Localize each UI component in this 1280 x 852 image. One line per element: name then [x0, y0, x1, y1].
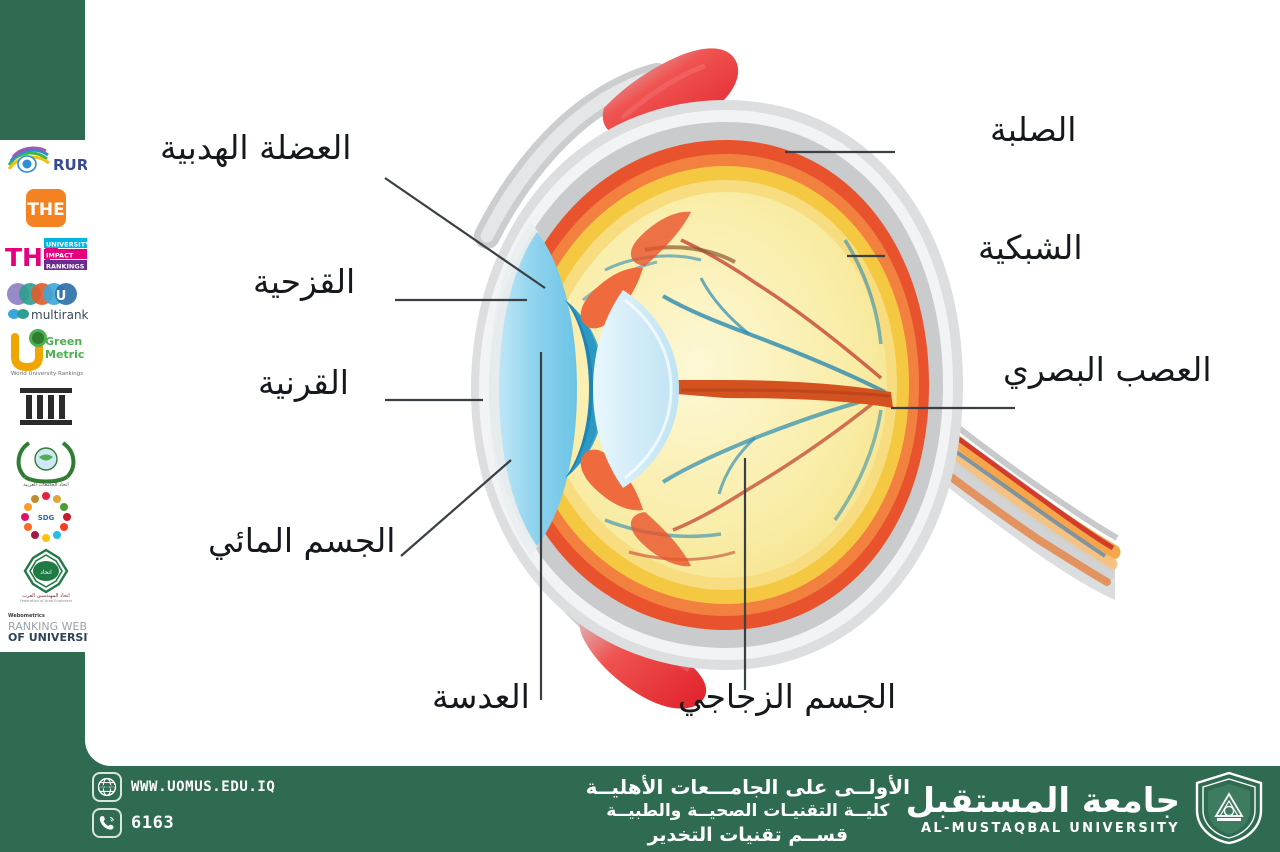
- faculty-line-1: الأولــى على الجامـــعات الأهليــة: [586, 774, 910, 800]
- svg-text:IMPACT: IMPACT: [46, 251, 74, 259]
- u-multirank-icon: U multirank: [4, 280, 88, 324]
- eye-anatomy-diagram: الصلبة الشبكية العصب البصري العضلة الهدب…: [85, 0, 1280, 766]
- svg-text:U: U: [56, 289, 67, 304]
- svg-text:RUR: RUR: [53, 156, 87, 174]
- label-ciliary-muscle: العضلة الهدبية: [160, 128, 351, 167]
- phone-icon: [92, 808, 122, 838]
- rur-icon: RUR: [5, 145, 87, 181]
- brand-name-ar: جامعة المستقبل: [906, 784, 1180, 820]
- website-label: WWW.UOMUS.EDU.IQ: [131, 779, 275, 795]
- badge-ui-greenmetric: Green Metric World University Rankings U…: [4, 328, 88, 378]
- the-impact-rankings-icon: THE UNIVERSITY IMPACT RANKINGS: [4, 235, 88, 275]
- accreditation-rankings-rail: RUR RUR THE THE THE UNIVERSITY IMPACT RA…: [0, 140, 92, 652]
- classical-building-icon: [16, 382, 76, 430]
- faculty-line-3: قســم تقنيات التخدير: [586, 823, 910, 848]
- badge-columns: [4, 381, 88, 431]
- svg-text:اتحاد الجامعات العربية: اتحاد الجامعات العربية: [23, 482, 69, 487]
- brand-name-en: AL-MUSTAQBAL UNIVERSITY: [906, 821, 1180, 836]
- badge-webometrics: Webometrics RANKING WEB OF UNIVERSITIES …: [4, 606, 88, 648]
- badge-rur: RUR RUR: [4, 144, 88, 182]
- phone-label: 6163: [131, 813, 174, 833]
- svg-text:THE: THE: [27, 200, 64, 220]
- label-aqueous-humor: الجسم المائي: [208, 521, 395, 560]
- contact-block: WWW WWW.UOMUS.EDU.IQ 6163: [92, 772, 322, 844]
- label-cornea: القرنية: [258, 363, 349, 402]
- faculty-block: الأولــى على الجامـــعات الأهليــة كليــ…: [586, 774, 910, 848]
- slide-background: الصلبة الشبكية العصب البصري العضلة الهدب…: [0, 0, 1280, 852]
- badge-arab-engineers: اتحاد اتحاد المهندسين العرب Federation o…: [4, 546, 88, 602]
- website-row[interactable]: WWW WWW.UOMUS.EDU.IQ: [92, 772, 322, 802]
- svg-text:SDG: SDG: [38, 514, 55, 522]
- svg-text:UNIVERSITY: UNIVERSITY: [46, 240, 88, 248]
- label-lens: العدسة: [432, 677, 530, 716]
- badge-arab-universities: اتحاد الجامعات العربية اتحاد الجامعات ال…: [4, 435, 88, 488]
- label-sclera: الصلبة: [990, 110, 1076, 149]
- svg-text:Green: Green: [45, 335, 82, 348]
- slide-footer: WWW WWW.UOMUS.EDU.IQ 6163 الأولــى على ا…: [0, 766, 1280, 852]
- university-brand: جامعة المستقبل AL-MUSTAQBAL UNIVERSITY: [906, 770, 1266, 850]
- svg-text:Metric: Metric: [45, 348, 84, 361]
- globe-www-icon: WWW: [92, 772, 122, 802]
- badge-the-impact: THE UNIVERSITY IMPACT RANKINGS THE UNIVE…: [4, 234, 88, 276]
- sdg-icon: SDG: [19, 492, 73, 542]
- university-shield-logo: [1192, 770, 1266, 850]
- svg-text:Federation of Arab Engineers: Federation of Arab Engineers: [20, 599, 72, 602]
- arab-engineers-icon: اتحاد اتحاد المهندسين العرب Federation o…: [7, 546, 85, 602]
- label-optic-nerve: العصب البصري: [1003, 350, 1212, 389]
- phone-row[interactable]: 6163: [92, 808, 322, 838]
- webometrics-icon: Webometrics RANKING WEB OF UNIVERSITIES: [4, 607, 88, 647]
- faculty-line-2: كليــة التقنيـات الصحيــة والطبيــة: [586, 800, 910, 822]
- badge-sdg: SDG SDG: [4, 492, 88, 542]
- svg-text:Webometrics: Webometrics: [8, 613, 45, 619]
- label-iris: القزحية: [253, 262, 355, 301]
- ui-greenmetric-icon: Green Metric World University Rankings: [5, 329, 87, 377]
- brand-text: جامعة المستقبل AL-MUSTAQBAL UNIVERSITY: [906, 784, 1180, 836]
- label-retina: الشبكية: [978, 228, 1083, 267]
- badge-u-multirank: U multirank multirank: [4, 280, 88, 324]
- label-vitreous-body: الجسم الزجاجي: [678, 677, 896, 716]
- svg-text:RANKINGS: RANKINGS: [46, 262, 85, 270]
- arab-universities-icon: اتحاد الجامعات العربية: [7, 435, 85, 487]
- svg-text:OF UNIVERSITIES: OF UNIVERSITIES: [8, 631, 88, 644]
- svg-text:World University Rankings: World University Rankings: [11, 371, 83, 377]
- svg-text:multirank: multirank: [31, 308, 88, 322]
- svg-text:اتحاد: اتحاد: [40, 569, 52, 576]
- svg-text:WWW: WWW: [99, 785, 116, 791]
- badge-the: THE THE: [4, 186, 88, 230]
- the-icon: THE: [23, 187, 69, 229]
